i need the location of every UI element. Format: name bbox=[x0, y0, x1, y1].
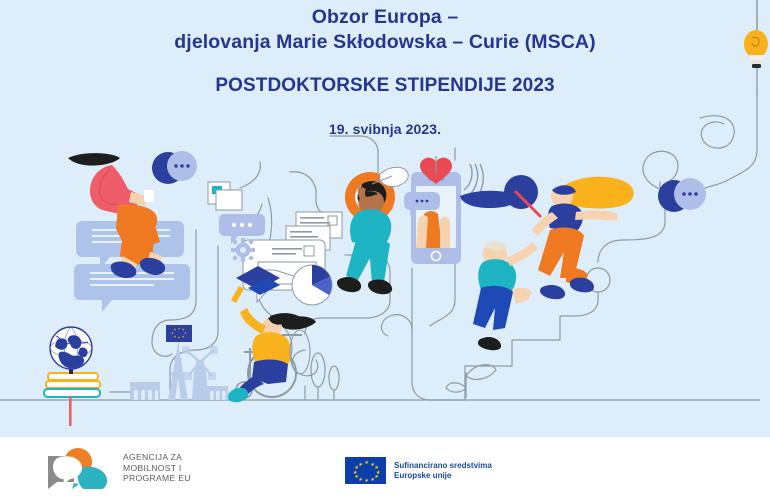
slide-titles: Obzor Europa – djelovanja Marie Skłodows… bbox=[0, 0, 770, 140]
eu-funding-text: Sufinancirano sredstvima Europske unije bbox=[394, 461, 492, 481]
trees-decor bbox=[311, 353, 339, 400]
title-line-1: Obzor Europa – bbox=[0, 0, 770, 30]
slide-subtitle: POSTDOKTORSKE STIPENDIJE 2023 bbox=[0, 55, 770, 98]
pie-chart-icon bbox=[292, 265, 332, 305]
landmarks-silhouette bbox=[130, 325, 228, 400]
eu-flag-icon: ★ ★ ★ ★ ★ ★ ★ ★ ★ ★ ★ ★ bbox=[345, 457, 386, 484]
presentation-slide: Obzor Europa – djelovanja Marie Skłodows… bbox=[0, 0, 770, 500]
gear-icon bbox=[231, 238, 255, 262]
ampeu-logo-mark bbox=[44, 447, 114, 489]
ampeu-logo: AGENCIJA ZA MOBILNOST I PROGRAME EU bbox=[44, 447, 191, 489]
title-line-2: djelovanja Marie Skłodowska – Curie (MSC… bbox=[0, 30, 770, 55]
person-walking-with-laptop bbox=[337, 167, 408, 294]
globe-on-books bbox=[44, 327, 100, 426]
chat-bubble-icons bbox=[152, 151, 242, 210]
slide-footer: AGENCIJA ZA MOBILNOST I PROGRAME EU ★ ★ … bbox=[0, 437, 770, 500]
pin-marker-icon bbox=[504, 175, 540, 216]
chat-bubble-right bbox=[658, 178, 706, 212]
ampeu-logo-text: AGENCIJA ZA MOBILNOST I PROGRAME EU bbox=[123, 452, 191, 483]
slide-date: 19. svibnja 2023. bbox=[0, 98, 770, 140]
eu-funding-emblem: ★ ★ ★ ★ ★ ★ ★ ★ ★ ★ ★ ★ Sufinancirano sr… bbox=[345, 457, 492, 484]
